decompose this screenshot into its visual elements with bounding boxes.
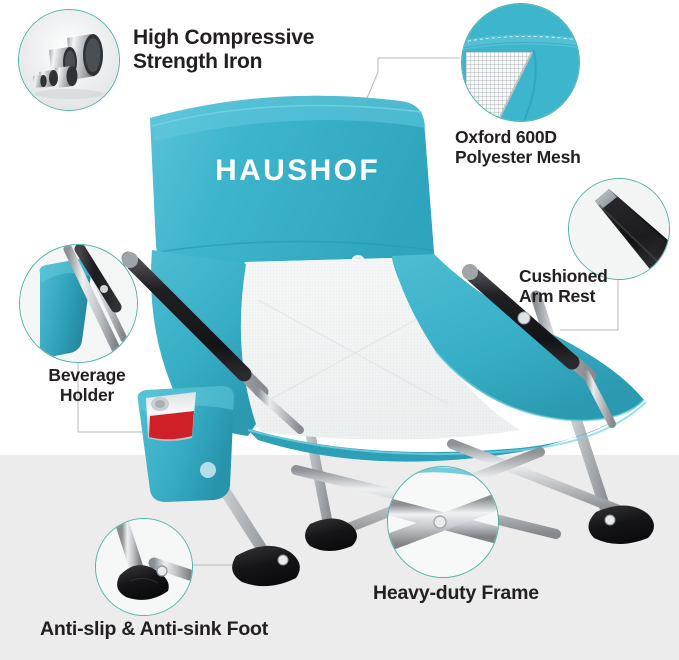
callout-label-anti-slip-anti-sink-foot: Anti-slip & Anti-sink Foot [40,619,330,641]
callout-circle-oxford-600d-polyester-mesh [461,3,580,122]
callout-label-high-compressive-strength-iron: High Compressive Strength Iron [133,26,348,73]
callout-label-heavy-duty-frame: Heavy-duty Frame [373,583,593,605]
cup-holder-icon [20,245,137,362]
product-infographic: HAUSHOF [0,0,679,660]
steel-pipes-icon [19,10,119,110]
callout-circle-cushioned-arm-rest [568,178,670,280]
armrest-foam-icon [569,179,669,279]
callout-circle-high-compressive-strength-iron [18,9,120,111]
foot-icon [96,519,192,615]
callout-label-oxford-600d-polyester-mesh: Oxford 600D Polyester Mesh [455,128,665,167]
callout-circle-heavy-duty-frame [387,466,499,578]
mesh-fabric-icon [462,4,579,121]
callout-circle-beverage-holder [19,244,138,363]
callout-label-cushioned-arm-rest: Cushioned Arm Rest [519,267,679,306]
brand-wordmark: HAUSHOF [215,154,380,187]
callout-label-beverage-holder: Beverage Holder [12,366,162,405]
cross-brace-icon [388,467,498,577]
callout-circle-anti-slip-anti-sink-foot [95,518,193,616]
